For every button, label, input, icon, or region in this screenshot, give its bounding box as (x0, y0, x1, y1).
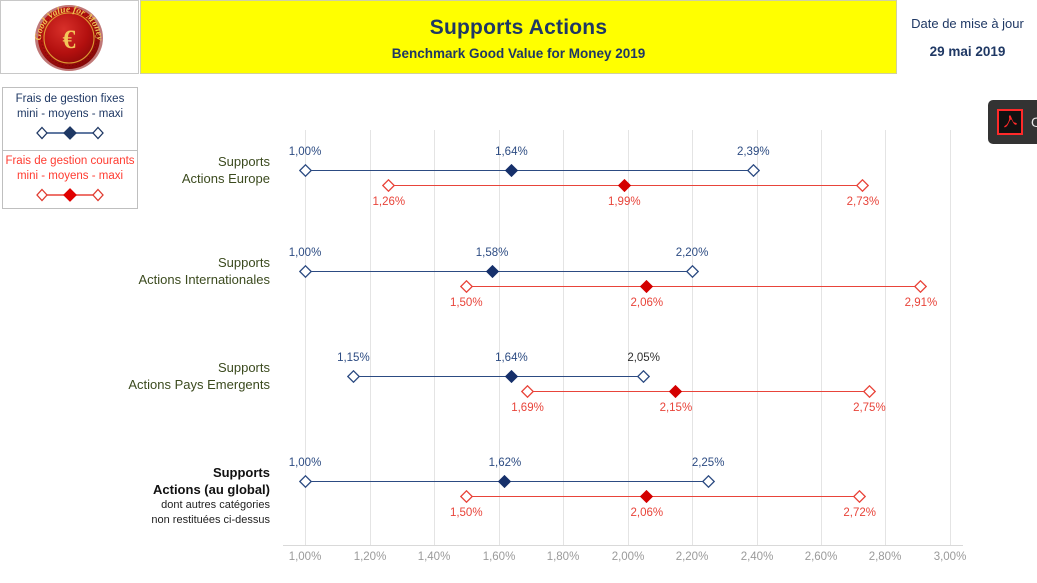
current-fee-max-label: 2,73% (847, 196, 880, 208)
gridline (434, 130, 435, 545)
current-fee-mean-marker (640, 280, 653, 293)
gridline (628, 130, 629, 545)
svg-text:€: € (63, 25, 76, 54)
legend-fixed-line2: mini - moyens - maxi (3, 107, 137, 122)
current-fee-mean-marker (618, 179, 631, 192)
x-axis-tick-label: 2,00% (612, 551, 645, 563)
fixed-fee-min-marker (299, 475, 312, 488)
current-fee-max-marker (863, 385, 876, 398)
gridline (757, 130, 758, 545)
fixed-fee-mean-marker (505, 164, 518, 177)
fixed-fee-mean-marker (486, 265, 499, 278)
chart-row-label: SupportsActions (au global)dont autres c… (10, 464, 270, 528)
current-fee-min-label: 1,50% (450, 297, 483, 309)
x-axis-tick-label: 1,00% (289, 551, 322, 563)
fixed-fee-mean-label: 1,64% (495, 146, 528, 158)
current-fee-min-marker (521, 385, 534, 398)
chart-plot-area: SupportsActions Europe1,00%1,64%2,39%1,2… (0, 130, 1037, 545)
chart-row-label: SupportsActions Pays Emergents (10, 359, 270, 393)
fixed-fee-max-marker (702, 475, 715, 488)
chart-row-label-line: Supports (10, 359, 270, 376)
current-fee-max-label: 2,72% (843, 507, 876, 519)
open-pdf-label: Ou (1031, 114, 1037, 130)
current-fee-max-label: 2,91% (905, 297, 938, 309)
chart-row-label-subline: dont autres catégories (10, 498, 270, 513)
fixed-fee-mean-label: 1,62% (489, 457, 522, 469)
x-axis-tick-label: 2,20% (676, 551, 709, 563)
x-axis-line (283, 545, 963, 546)
current-fee-mean-marker (640, 490, 653, 503)
fixed-fee-min-marker (299, 265, 312, 278)
x-axis-tick-label: 2,60% (805, 551, 838, 563)
gridline (563, 130, 564, 545)
good-value-for-money-seal-icon: Good Value for Money € (19, 4, 119, 72)
fixed-fee-max-marker (637, 370, 650, 383)
fixed-fee-max-label: 2,25% (692, 457, 725, 469)
x-axis-tick-label: 3,00% (934, 551, 967, 563)
current-fee-max-marker (856, 179, 869, 192)
gridline (370, 130, 371, 545)
chart-row-label-line: Actions Pays Emergents (10, 376, 270, 393)
fixed-fee-max-marker (686, 265, 699, 278)
page-title: Supports Actions (141, 16, 896, 40)
gridline (885, 130, 886, 545)
update-date-value: 29 mai 2019 (898, 44, 1037, 59)
update-date-cell: Date de mise à jour 29 mai 2019 (898, 0, 1037, 74)
fixed-fee-min-label: 1,00% (289, 146, 322, 158)
current-fee-mean-label: 1,99% (608, 196, 641, 208)
fixed-fee-max-label: 2,05% (627, 352, 660, 364)
current-fee-mean-marker (669, 385, 682, 398)
gridline (821, 130, 822, 545)
fixed-fee-mean-label: 1,64% (495, 352, 528, 364)
chart-row-label-line: Actions (au global) (10, 481, 270, 498)
current-fee-max-marker (853, 490, 866, 503)
fixed-fee-mean-label: 1,58% (476, 247, 509, 259)
current-fee-mean-label: 2,15% (660, 402, 693, 414)
fixed-fee-min-label: 1,00% (289, 247, 322, 259)
current-fee-max-label: 2,75% (853, 402, 886, 414)
logo-cell: Good Value for Money € (0, 0, 139, 74)
current-fee-min-marker (460, 490, 473, 503)
chart-row-label-line: Actions Europe (10, 170, 270, 187)
fixed-fee-min-marker (299, 164, 312, 177)
x-axis-tick-label: 1,60% (483, 551, 516, 563)
title-banner: Supports Actions Benchmark Good Value fo… (140, 0, 897, 74)
fixed-fee-mean-marker (498, 475, 511, 488)
current-fee-range-line (466, 496, 859, 497)
chart-row-label-line: Supports (10, 464, 270, 481)
x-axis-tick-label: 2,40% (741, 551, 774, 563)
current-fee-min-marker (460, 280, 473, 293)
page-subtitle: Benchmark Good Value for Money 2019 (141, 46, 896, 61)
current-fee-range-line (466, 286, 921, 287)
chart-row-label-line: Supports (10, 254, 270, 271)
current-fee-max-marker (914, 280, 927, 293)
fixed-fee-max-label: 2,39% (737, 146, 770, 158)
chart-x-axis: 1,00%1,20%1,40%1,60%1,80%2,00%2,20%2,40%… (0, 545, 1037, 583)
current-fee-range-line (528, 391, 870, 392)
x-axis-tick-label: 1,80% (547, 551, 580, 563)
gridline (950, 130, 951, 545)
current-fee-mean-label: 2,06% (631, 297, 664, 309)
current-fee-min-marker (382, 179, 395, 192)
current-fee-mean-label: 2,06% (631, 507, 664, 519)
current-fee-min-label: 1,69% (511, 402, 544, 414)
x-axis-tick-label: 2,80% (869, 551, 902, 563)
fixed-fee-max-label: 2,20% (676, 247, 709, 259)
legend-fixed-line1: Frais de gestion fixes (3, 92, 137, 107)
fixed-fee-range-line (353, 376, 643, 377)
x-axis-tick-label: 1,20% (354, 551, 387, 563)
fixed-fee-min-marker (347, 370, 360, 383)
fixed-fee-mean-marker (505, 370, 518, 383)
page-header: Good Value for Money € Supports Actions … (0, 0, 1037, 76)
update-date-label: Date de mise à jour (898, 16, 1037, 31)
chart-row-label-line: Actions Internationales (10, 271, 270, 288)
fixed-fee-min-label: 1,15% (337, 352, 370, 364)
gridline (692, 130, 693, 545)
chart-row-label-subline: non restituées ci-dessus (10, 513, 270, 528)
chart-row-label: SupportsActions Internationales (10, 254, 270, 288)
x-axis-tick-label: 1,40% (418, 551, 451, 563)
current-fee-min-label: 1,26% (373, 196, 406, 208)
chart-row-label: SupportsActions Europe (10, 153, 270, 187)
chart-row-label-line: Supports (10, 153, 270, 170)
fixed-fee-max-marker (747, 164, 760, 177)
fixed-fee-range-line (305, 170, 753, 171)
current-fee-min-label: 1,50% (450, 507, 483, 519)
benchmark-chart: SupportsActions Europe1,00%1,64%2,39%1,2… (0, 130, 1037, 583)
fixed-fee-min-label: 1,00% (289, 457, 322, 469)
